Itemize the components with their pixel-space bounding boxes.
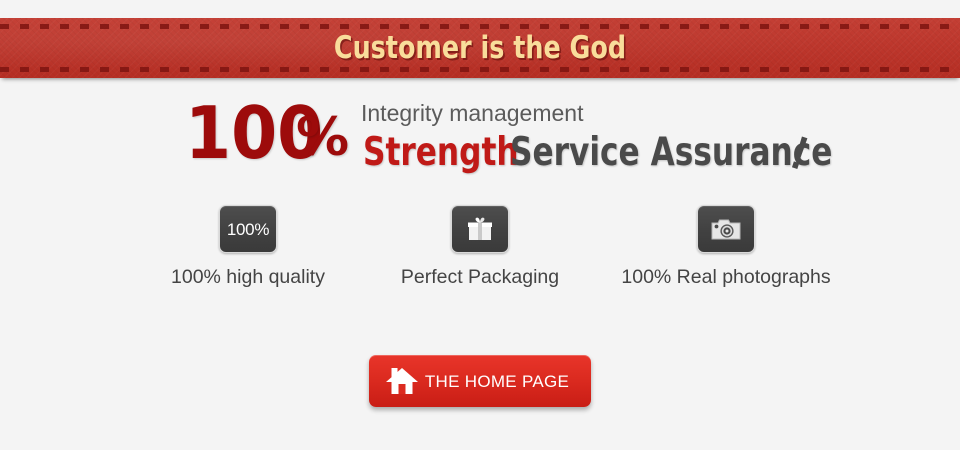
percent-badge-icon: 100% (219, 205, 277, 253)
top-banner: Customer is the God (0, 18, 960, 78)
gift-box-icon (451, 205, 509, 253)
feature-item-real-photographs: 100% Real photographs (604, 205, 848, 289)
headline-subtitle: Integrity management (361, 102, 583, 125)
banner-title: Customer is the God (86, 18, 873, 78)
home-button-label: THE HOME PAGE (425, 373, 569, 390)
home-page-button[interactable]: THE HOME PAGE (369, 355, 591, 407)
percent-badge-label: 100% (227, 221, 269, 238)
house-icon (385, 366, 419, 396)
feature-row: 100% 100% high quality Perfect Packaging (0, 205, 960, 305)
headline-percent-symbol: % (296, 111, 349, 164)
camera-icon (697, 205, 755, 253)
feature-label-high-quality: 100% high quality (150, 265, 346, 289)
feature-item-high-quality: 100% 100% high quality (150, 205, 346, 289)
headline-word-strength: Strength (363, 133, 519, 172)
feature-label-real-photographs: 100% Real photographs (604, 265, 848, 289)
home-button-container: THE HOME PAGE (0, 355, 960, 407)
headline-word-service-assurance: Service Assurance (510, 133, 832, 172)
banner-strip: Customer is the God (0, 18, 960, 78)
feature-label-packaging: Perfect Packaging (392, 265, 568, 289)
headline-block: 100 % Integrity management Strength Serv… (0, 93, 960, 183)
feature-item-packaging: Perfect Packaging (392, 205, 568, 289)
